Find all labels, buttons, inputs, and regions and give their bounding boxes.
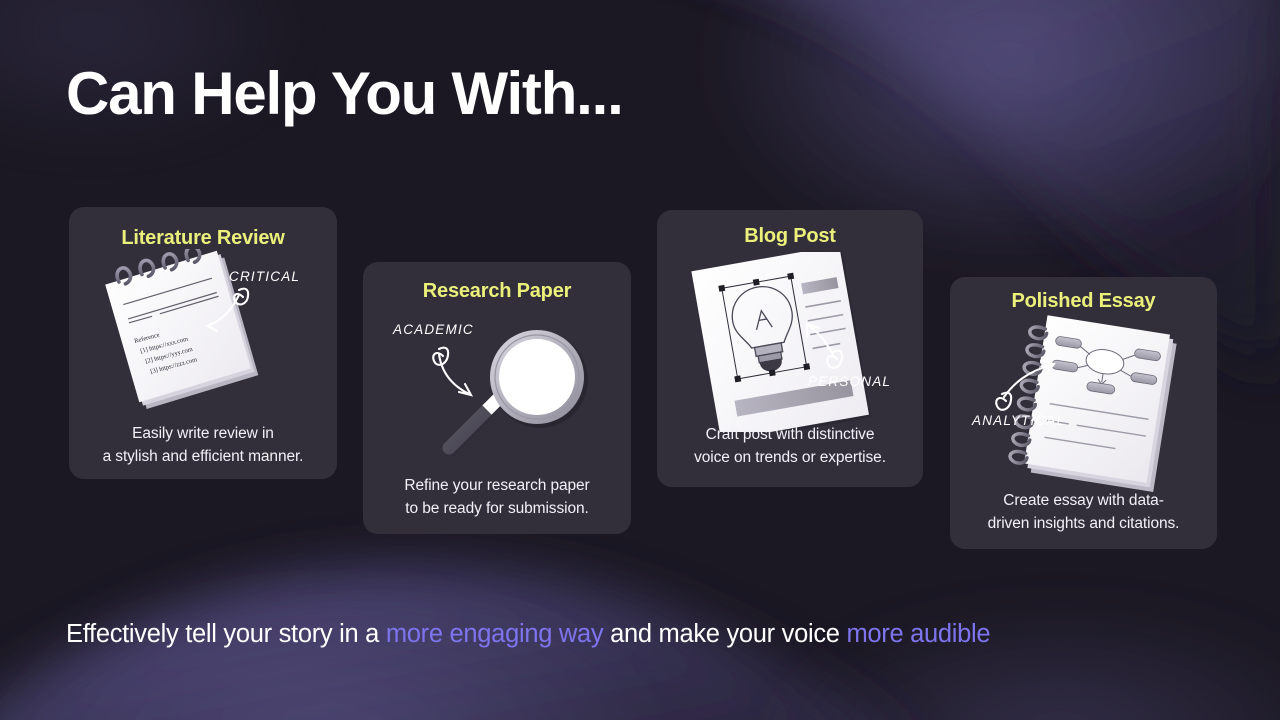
caption-part-1: Effectively tell your story in a	[66, 620, 386, 648]
card-description-line: voice on trends or expertise.	[665, 446, 915, 469]
card-description: Create essay with data- driven insights …	[958, 489, 1209, 536]
card-research-paper[interactable]: Research Paper ACADEMIC	[363, 262, 631, 534]
card-literature-review[interactable]: Literature Review	[69, 207, 337, 479]
caption-highlight-2: more audible	[846, 620, 990, 648]
card-description: Refine your research paper to be ready f…	[371, 474, 623, 521]
curly-arrow-icon	[433, 348, 471, 395]
sticker-label: ACADEMIC	[392, 322, 474, 337]
footer-caption: Effectively tell your story in a more en…	[66, 620, 990, 649]
card-title: Literature Review	[69, 227, 337, 250]
card-description-line: to be ready for submission.	[371, 497, 623, 520]
sticker-label: PERSONAL	[808, 374, 891, 389]
lightbulb-document-illustration: PERSONAL	[675, 252, 907, 432]
spiral-notepad-illustration: Reference [1] https://xxx.com [2] https:…	[87, 249, 319, 429]
card-title: Polished Essay	[950, 290, 1217, 313]
sticker-label: ANALYTICAL	[971, 413, 1065, 428]
magnifying-glass-illustration: ACADEMIC	[383, 304, 615, 484]
card-description: Craft post with distinctive voice on tre…	[665, 423, 915, 470]
card-title: Blog Post	[657, 225, 923, 248]
caption-highlight-1: more engaging way	[386, 620, 603, 648]
mindmap-notebook-illustration: ANALYTICAL	[970, 315, 1202, 495]
card-description-line: a stylish and efficient manner.	[77, 445, 329, 468]
card-polished-essay[interactable]: Polished Essay	[950, 277, 1217, 549]
card-blog-post[interactable]: Blog Post	[657, 210, 923, 487]
page-title: Can Help You With...	[66, 62, 623, 125]
card-description-line: Create essay with data-	[958, 489, 1209, 512]
card-description-line: Refine your research paper	[371, 474, 623, 497]
card-title: Research Paper	[363, 280, 631, 303]
card-description: Easily write review in a stylish and eff…	[77, 422, 329, 469]
card-description-line: Easily write review in	[77, 422, 329, 445]
card-description-line: Craft post with distinctive	[665, 423, 915, 446]
card-description-line: driven insights and citations.	[958, 512, 1209, 535]
sticker-label: CRITICAL	[229, 269, 300, 284]
caption-part-2: and make your voice	[603, 620, 846, 648]
